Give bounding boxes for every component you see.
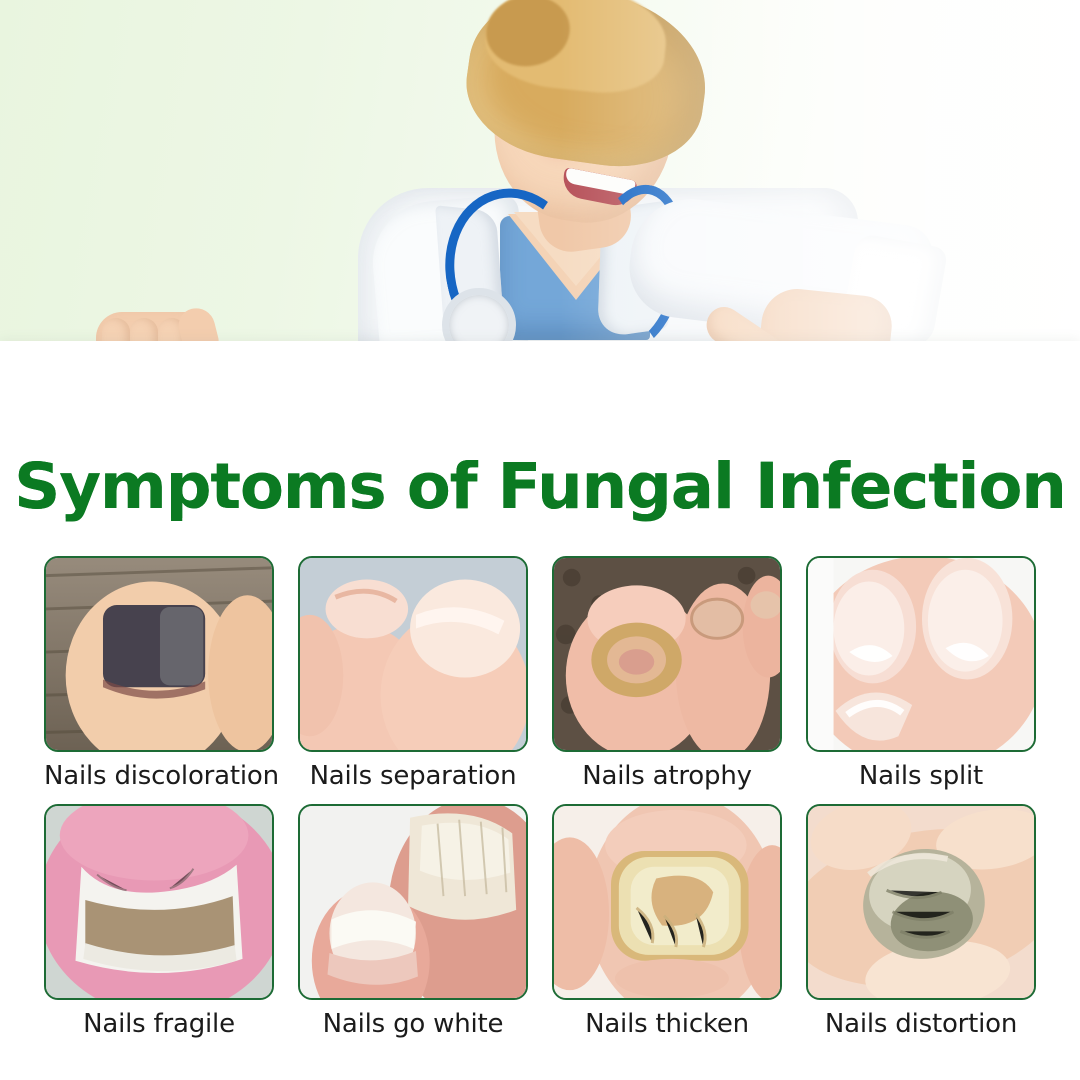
symptom-label: Nails go white [298,1009,528,1040]
symptom-card[interactable]: Nails fragile [44,804,274,1040]
symptom-image-nails-go-white[interactable] [298,804,528,1000]
hero-gradient-overlay [560,0,1080,345]
symptom-image-nails-fragile[interactable] [44,804,274,1000]
hero-banner [0,0,1080,345]
symptom-image-nails-thicken[interactable] [552,804,782,1000]
symptom-label: Nails atrophy [552,761,782,792]
symptom-card[interactable]: Nails go white [298,804,528,1040]
symptom-image-nails-split[interactable] [806,556,1036,752]
symptom-image-nails-atrophy[interactable] [552,556,782,752]
symptoms-grid: Nails discoloration Nails separation [44,556,1044,1039]
symptom-card[interactable]: Nails split [806,556,1036,792]
symptom-label: Nails discoloration [44,761,274,792]
symptom-card[interactable]: Nails atrophy [552,556,782,792]
symptom-label: Nails distortion [806,1009,1036,1040]
symptom-label: Nails separation [298,761,528,792]
page-title: Symptoms of Fungal Infection [0,455,1080,518]
left-hand-thumb [175,304,221,345]
symptom-card[interactable]: Nails thicken [552,804,782,1040]
symptom-label: Nails split [806,761,1036,792]
symptom-card[interactable]: Nails distortion [806,804,1036,1040]
symptom-image-nails-distortion[interactable] [806,804,1036,1000]
symptom-card[interactable]: Nails discoloration [44,556,274,792]
symptom-label: Nails fragile [44,1009,274,1040]
symptom-label: Nails thicken [552,1009,782,1040]
symptom-card[interactable]: Nails separation [298,556,528,792]
symptom-image-nails-discoloration[interactable] [44,556,274,752]
symptom-image-nails-separation[interactable] [298,556,528,752]
poster-root: Symptoms of Fungal Infection [0,0,1080,1080]
